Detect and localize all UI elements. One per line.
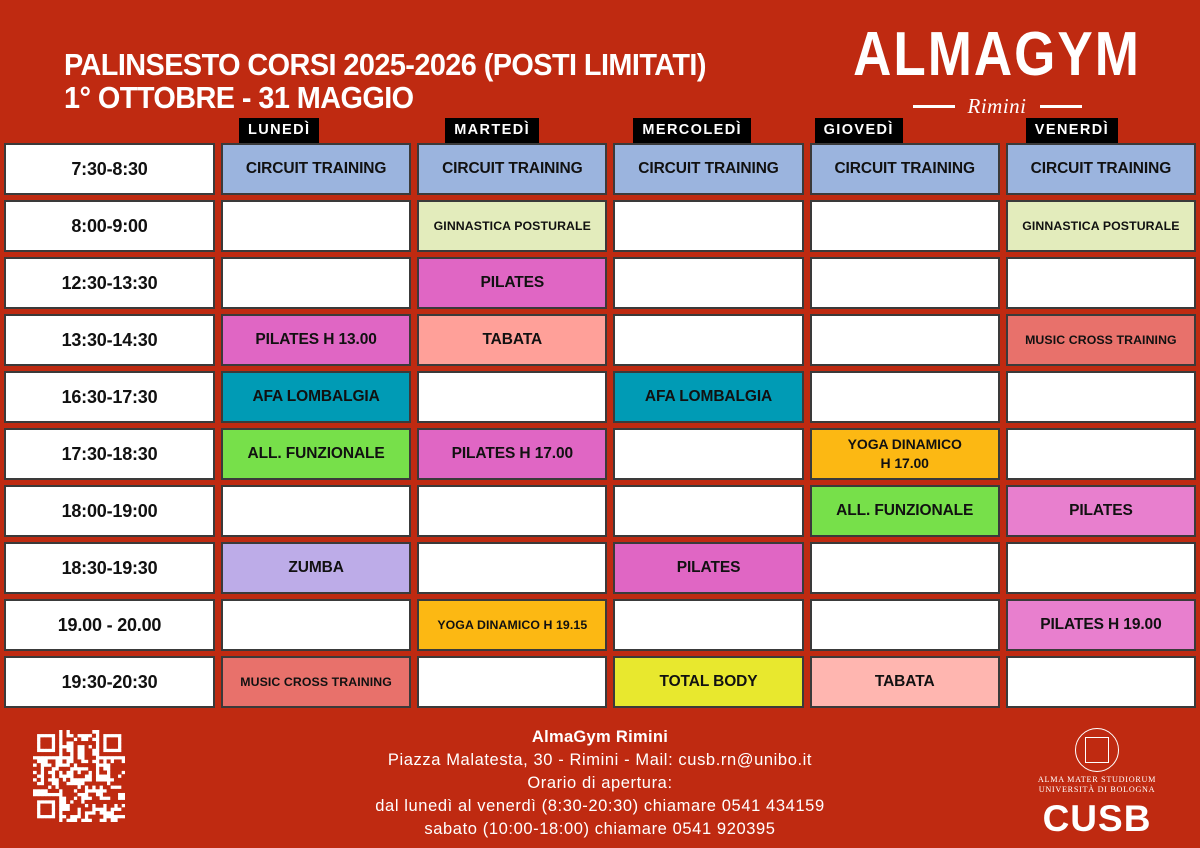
footer-hours-heading: Orario di apertura: — [0, 772, 1200, 795]
day-label-4: VENERDÌ — [1026, 118, 1118, 143]
class-cell[interactable]: CIRCUIT TRAINING — [810, 143, 1000, 195]
class-cell[interactable]: AFA LOMBALGIA — [613, 371, 803, 423]
class-cell[interactable]: PILATES — [613, 542, 803, 594]
day-label-2: MERCOLEDÌ — [633, 118, 751, 143]
schedule-row: 16:30-17:30AFA LOMBALGIAAFA LOMBALGIA — [4, 371, 1196, 423]
empty-cell — [1006, 542, 1196, 594]
footer-address: Piazza Malatesta, 30 - Rimini - Mail: cu… — [0, 749, 1200, 772]
logo-subrow: Rimini — [852, 94, 1142, 119]
schedule-row: 19:30-20:30MUSIC CROSS TRAININGTOTAL BOD… — [4, 656, 1196, 708]
empty-cell — [1006, 656, 1196, 708]
class-cell[interactable]: GINNASTICA POSTURALE — [417, 200, 607, 252]
empty-cell — [810, 542, 1000, 594]
empty-cell — [613, 200, 803, 252]
logo-city-label: Rimini — [968, 94, 1027, 119]
time-slot-cell: 16:30-17:30 — [4, 371, 215, 423]
time-slot-cell: 12:30-13:30 — [4, 257, 215, 309]
class-cell[interactable]: MUSIC CROSS TRAINING — [221, 656, 411, 708]
class-cell[interactable]: PILATES — [1006, 485, 1196, 537]
footer-venue-name: AlmaGym Rimini — [0, 726, 1200, 749]
footer-hours-weekday: dal lunedì al venerdì (8:30-20:30) chiam… — [0, 795, 1200, 818]
schedule-row: 19.00 - 20.00YOGA DINAMICO H 19.15PILATE… — [4, 599, 1196, 651]
class-cell[interactable]: PILATES H 19.00 — [1006, 599, 1196, 651]
empty-cell — [613, 599, 803, 651]
time-slot-cell: 18:30-19:30 — [4, 542, 215, 594]
time-slot-cell: 13:30-14:30 — [4, 314, 215, 366]
class-cell[interactable]: YOGA DINAMICO H 19.15 — [417, 599, 607, 651]
empty-cell — [221, 485, 411, 537]
empty-cell — [810, 257, 1000, 309]
poster-header: PALINSESTO CORSI 2025-2026 (POSTI LIMITA… — [0, 0, 1200, 140]
class-cell[interactable]: CIRCUIT TRAINING — [1006, 143, 1196, 195]
day-label-0: LUNEDÌ — [239, 118, 319, 143]
time-slot-cell: 7:30-8:30 — [4, 143, 215, 195]
empty-cell — [810, 599, 1000, 651]
empty-cell — [221, 257, 411, 309]
title-block: PALINSESTO CORSI 2025-2026 (POSTI LIMITA… — [64, 48, 754, 114]
class-cell[interactable]: TABATA — [810, 656, 1000, 708]
time-slot-cell: 8:00-9:00 — [4, 200, 215, 252]
title-line-2: 1° OTTOBRE - 31 MAGGIO — [64, 81, 706, 114]
class-cell[interactable]: AFA LOMBALGIA — [221, 371, 411, 423]
class-cell[interactable]: TOTAL BODY — [613, 656, 803, 708]
day-label-1: MARTEDÌ — [445, 118, 539, 143]
time-slot-cell: 18:00-19:00 — [4, 485, 215, 537]
poster-footer: AlmaGym Rimini Piazza Malatesta, 30 - Ri… — [0, 718, 1200, 848]
schedule-poster: PALINSESTO CORSI 2025-2026 (POSTI LIMITA… — [0, 0, 1200, 848]
logo-wordmark: ALMAGYM — [852, 22, 1142, 88]
class-cell[interactable]: ALL. FUNZIONALE — [810, 485, 1000, 537]
empty-cell — [1006, 371, 1196, 423]
empty-cell — [417, 542, 607, 594]
empty-cell — [810, 200, 1000, 252]
empty-cell — [613, 257, 803, 309]
empty-cell — [1006, 428, 1196, 480]
empty-cell — [417, 485, 607, 537]
empty-cell — [221, 200, 411, 252]
schedule-row: 7:30-8:30CIRCUIT TRAININGCIRCUIT TRAININ… — [4, 143, 1196, 195]
time-slot-cell: 19.00 - 20.00 — [4, 599, 215, 651]
cusb-wordmark: CUSB — [1032, 798, 1162, 840]
class-cell[interactable]: PILATES H 13.00 — [221, 314, 411, 366]
title-line-1: PALINSESTO CORSI 2025-2026 (POSTI LIMITA… — [64, 48, 706, 81]
empty-cell — [613, 485, 803, 537]
empty-cell — [810, 371, 1000, 423]
schedule-row: 13:30-14:30PILATES H 13.00TABATAMUSIC CR… — [4, 314, 1196, 366]
schedule-row: 18:00-19:00ALL. FUNZIONALEPILATES — [4, 485, 1196, 537]
cusb-subtitle-2: UNIVERSITÀ DI BOLOGNA — [1032, 785, 1162, 795]
empty-cell — [613, 428, 803, 480]
footer-contact-block: AlmaGym Rimini Piazza Malatesta, 30 - Ri… — [0, 726, 1200, 841]
empty-cell — [1006, 257, 1196, 309]
class-cell[interactable]: MUSIC CROSS TRAINING — [1006, 314, 1196, 366]
class-cell[interactable]: ZUMBA — [221, 542, 411, 594]
time-slot-cell: 17:30-18:30 — [4, 428, 215, 480]
empty-cell — [613, 314, 803, 366]
schedule-row: 17:30-18:30ALL. FUNZIONALEPILATES H 17.0… — [4, 428, 1196, 480]
schedule-row: 18:30-19:30ZUMBAPILATES — [4, 542, 1196, 594]
empty-cell — [810, 314, 1000, 366]
class-cell[interactable]: YOGA DINAMICOH 17.00 — [810, 428, 1000, 480]
schedule-row: 12:30-13:30PILATES — [4, 257, 1196, 309]
schedule-row: 8:00-9:00GINNASTICA POSTURALEGINNASTICA … — [4, 200, 1196, 252]
class-cell[interactable]: CIRCUIT TRAINING — [613, 143, 803, 195]
class-cell[interactable]: CIRCUIT TRAINING — [417, 143, 607, 195]
schedule-grid: 7:30-8:30CIRCUIT TRAININGCIRCUIT TRAININ… — [4, 143, 1196, 708]
day-label-3: GIOVEDÌ — [815, 118, 903, 143]
logo-dash-right — [1040, 105, 1082, 108]
empty-cell — [417, 656, 607, 708]
class-cell[interactable]: CIRCUIT TRAINING — [221, 143, 411, 195]
cusb-logo: ALMA MATER STUDIORUM UNIVERSITÀ DI BOLOG… — [1032, 728, 1162, 840]
empty-cell — [417, 371, 607, 423]
cusb-subtitle-1: ALMA MATER STUDIORUM — [1032, 775, 1162, 785]
class-cell[interactable]: PILATES H 17.00 — [417, 428, 607, 480]
almagym-logo: ALMAGYM Rimini — [852, 22, 1142, 119]
class-cell[interactable]: ALL. FUNZIONALE — [221, 428, 411, 480]
footer-hours-saturday: sabato (10:00-18:00) chiamare 0541 92039… — [0, 818, 1200, 841]
class-cell[interactable]: TABATA — [417, 314, 607, 366]
time-slot-cell: 19:30-20:30 — [4, 656, 215, 708]
class-cell[interactable]: PILATES — [417, 257, 607, 309]
university-seal-icon — [1075, 728, 1119, 772]
logo-dash-left — [913, 105, 955, 108]
class-cell[interactable]: GINNASTICA POSTURALE — [1006, 200, 1196, 252]
empty-cell — [221, 599, 411, 651]
